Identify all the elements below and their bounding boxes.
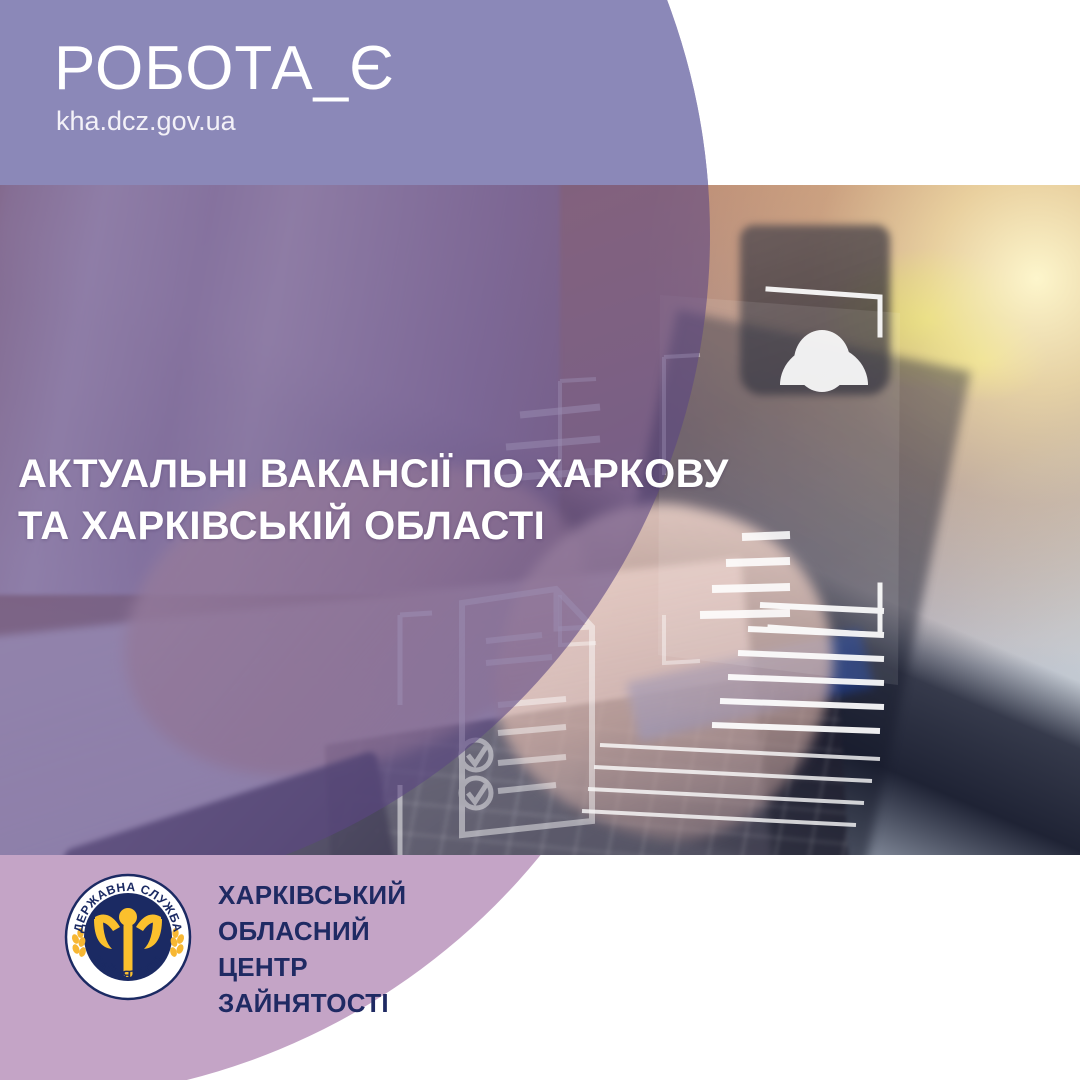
- organization-name: ХАРКІВСЬКИЙ ОБЛАСНИЙ ЦЕНТР ЗАЙНЯТОСТІ: [218, 877, 406, 1021]
- headline-line-2: ТА ХАРКІВСЬКІЙ ОБЛАСТІ: [18, 500, 778, 552]
- footer-band: ДЕРЖАВНА СЛУЖБА ЗАЙНЯТОСТІ ХАРКІВСЬКИЙ О…: [0, 855, 1080, 1080]
- org-name-line-1: ХАРКІВСЬКИЙ: [218, 877, 406, 913]
- brand-title: РОБОТА_Є: [54, 38, 700, 100]
- employment-service-emblem: ДЕРЖАВНА СЛУЖБА ЗАЙНЯТОСТІ: [64, 873, 192, 1001]
- brand-url[interactable]: kha.dcz.gov.ua: [56, 108, 700, 135]
- headline: АКТУАЛЬНІ ВАКАНСІЇ ПО ХАРКОВУ ТА ХАРКІВС…: [18, 448, 778, 552]
- footer-content: ДЕРЖАВНА СЛУЖБА ЗАЙНЯТОСТІ ХАРКІВСЬКИЙ О…: [0, 855, 640, 1080]
- header-band: РОБОТА_Є kha.dcz.gov.ua: [0, 0, 1080, 185]
- poster-canvas: РОБОТА_Є kha.dcz.gov.ua АКТУАЛЬНІ ВАКАНС…: [0, 0, 1080, 1080]
- org-name-line-2: ОБЛАСНИЙ: [218, 913, 406, 949]
- brand-block: РОБОТА_Є kha.dcz.gov.ua: [0, 0, 700, 185]
- org-name-line-3: ЦЕНТР: [218, 949, 406, 985]
- org-name-line-4: ЗАЙНЯТОСТІ: [218, 985, 406, 1021]
- headline-line-1: АКТУАЛЬНІ ВАКАНСІЇ ПО ХАРКОВУ: [18, 448, 778, 500]
